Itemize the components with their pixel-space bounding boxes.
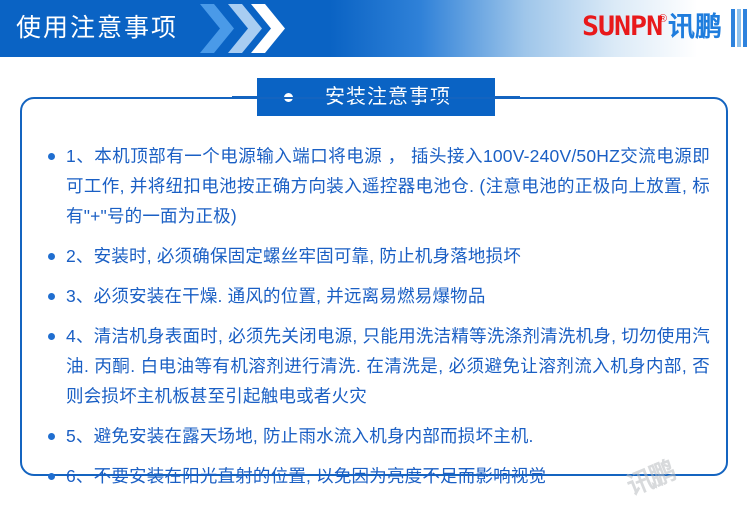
- list-item-text: 2、安装时, 必须确保固定螺丝牢固可靠, 防止机身落地损坏: [66, 246, 521, 266]
- list-item-text: 6、不要安装在阳光直射的位置, 以免因为亮度不足而影响视觉: [66, 466, 546, 486]
- logo-brand-cn: 讯鹏: [668, 12, 722, 42]
- logo-bars-icon: [731, 9, 750, 47]
- bullet-dot-icon: [48, 433, 55, 440]
- logo-brand-latin: SUNPN: [582, 12, 662, 42]
- bullet-dot-icon: [48, 153, 55, 160]
- chevron-right-white-icon: [251, 0, 293, 57]
- bullet-dot-icon: [48, 473, 55, 480]
- bullet-dot-icon: [48, 253, 55, 260]
- list-item: 2、安装时, 必须确保固定螺丝牢固可靠, 防止机身落地损坏: [40, 241, 710, 271]
- page-header: 使用注意事项 SUNPN ® 讯鹏: [0, 0, 750, 57]
- list-item: 1、本机顶部有一个电源输入端口将电源 ， 插头接入100V-240V/50HZ交…: [40, 141, 710, 231]
- list-item: 4、清洁机身表面时, 必须先关闭电源, 只能用洗洁精等洗涤剂清洗机身, 切勿使用…: [40, 321, 710, 411]
- bullet-dot-icon: [48, 293, 55, 300]
- notes-list: 1、本机顶部有一个电源输入端口将电源 ， 插头接入100V-240V/50HZ交…: [40, 141, 710, 491]
- list-item-text: 3、必须安装在干燥. 通风的位置, 并远离易燃易爆物品: [66, 286, 486, 306]
- list-item: 6、不要安装在阳光直射的位置, 以免因为亮度不足而影响视觉: [40, 461, 710, 491]
- list-item: 3、必须安装在干燥. 通风的位置, 并远离易燃易爆物品: [40, 281, 710, 311]
- page-title: 使用注意事项: [16, 9, 178, 47]
- list-item-text: 4、清洁机身表面时, 必须先关闭电源, 只能用洗洁精等洗涤剂清洗机身, 切勿使用…: [66, 326, 710, 406]
- list-item-text: 1、本机顶部有一个电源输入端口将电源 ， 插头接入100V-240V/50HZ交…: [66, 146, 710, 226]
- brand-logo: SUNPN ® 讯鹏: [582, 12, 722, 44]
- bullet-dot-icon: [48, 333, 55, 340]
- list-item: 5、避免安装在露天场地, 防止雨水流入机身内部而损坏主机.: [40, 421, 710, 451]
- list-item-text: 5、避免安装在露天场地, 防止雨水流入机身内部而损坏主机.: [66, 426, 534, 446]
